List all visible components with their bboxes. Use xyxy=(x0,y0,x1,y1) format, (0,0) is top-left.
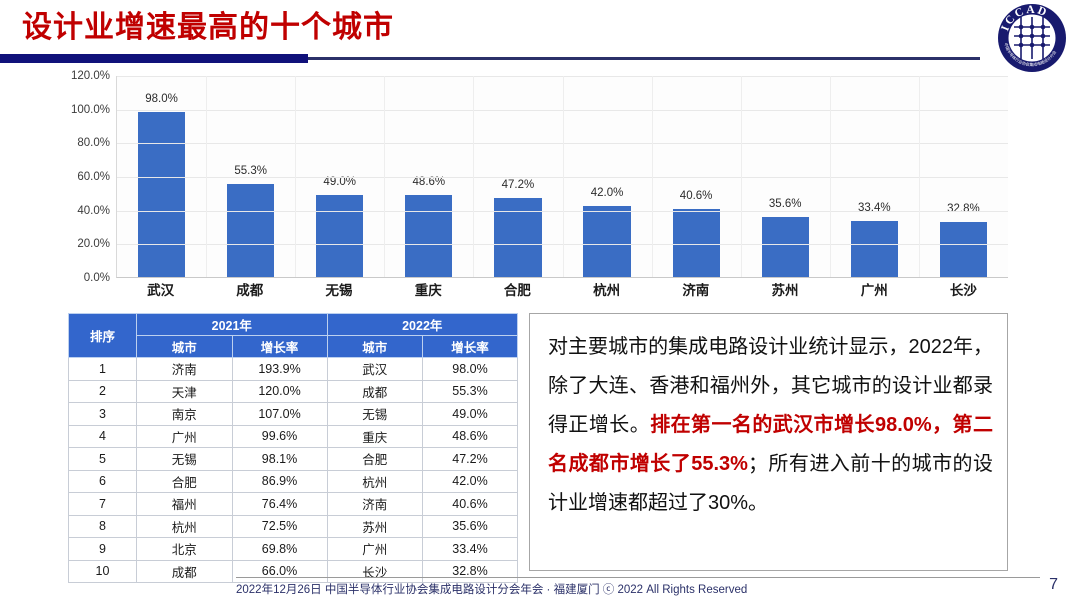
commentary-box: 对主要城市的集成电路设计业统计显示，2022年，除了大连、香港和福州外，其它城市… xyxy=(529,313,1008,571)
chart-bar: 33.4% xyxy=(851,221,898,277)
th-year-2021: 2021年 xyxy=(137,314,328,336)
cell-rate-2022: 42.0% xyxy=(423,470,518,493)
chart-bar: 47.2% xyxy=(494,198,541,277)
cell-rank: 8 xyxy=(69,515,137,538)
chart-x-category-label: 济南 xyxy=(651,279,740,303)
y-axis-tick: 120.0% xyxy=(71,70,110,82)
cell-rate-2022: 40.6% xyxy=(423,493,518,516)
th-year-2022: 2022年 xyxy=(327,314,517,336)
chart-x-category-label: 广州 xyxy=(830,279,919,303)
chart-plot-area: 98.0%55.3%49.0%48.6%47.2%42.0%40.6%35.6%… xyxy=(116,76,1008,278)
cell-rate-2022: 33.4% xyxy=(423,538,518,561)
cell-rank: 7 xyxy=(69,493,137,516)
cell-rate-2022: 49.0% xyxy=(423,403,518,426)
chart-bar-value-label: 98.0% xyxy=(145,93,178,105)
cell-city-2022: 无锡 xyxy=(327,403,422,426)
chart-vertical-gridline xyxy=(563,76,564,277)
chart-x-category-label: 武汉 xyxy=(116,279,205,303)
cell-city-2021: 无锡 xyxy=(137,448,232,471)
chart-vertical-gridline xyxy=(830,76,831,277)
cell-rate-2021: 98.1% xyxy=(232,448,327,471)
header-rule-thin xyxy=(308,57,980,60)
y-axis-tick: 40.0% xyxy=(77,205,110,217)
chart-bar-value-label: 47.2% xyxy=(502,179,535,191)
th-growth-2022: 增长率 xyxy=(423,336,518,358)
page-number: 7 xyxy=(1049,576,1058,594)
chart-bar: 55.3% xyxy=(227,184,274,277)
chart-bar-value-label: 55.3% xyxy=(234,165,267,177)
table-header-row-1: 排序 2021年 2022年 xyxy=(69,314,518,336)
chart-vertical-gridline xyxy=(384,76,385,277)
cell-city-2022: 长沙 xyxy=(327,560,422,583)
header-rule-thick xyxy=(0,54,308,63)
cell-city-2022: 武汉 xyxy=(327,358,422,381)
th-city-2021: 城市 xyxy=(137,336,232,358)
cell-rate-2021: 76.4% xyxy=(232,493,327,516)
cell-city-2021: 济南 xyxy=(137,358,232,381)
y-axis-tick: 60.0% xyxy=(77,171,110,183)
th-growth-2021: 增长率 xyxy=(232,336,327,358)
chart-bar-value-label: 32.8% xyxy=(947,203,980,215)
chart-bar: 42.0% xyxy=(583,206,630,277)
cell-rate-2021: 69.8% xyxy=(232,538,327,561)
table-row: 9北京69.8%广州33.4% xyxy=(69,538,518,561)
growth-bar-chart: 120.0%100.0%80.0%60.0%40.0%20.0%0.0% 98.… xyxy=(58,76,1008,302)
cell-city-2021: 福州 xyxy=(137,493,232,516)
table-row: 4广州99.6%重庆48.6% xyxy=(69,425,518,448)
th-city-2022: 城市 xyxy=(327,336,422,358)
cell-rank: 3 xyxy=(69,403,137,426)
cell-rate-2022: 55.3% xyxy=(423,380,518,403)
th-rank: 排序 xyxy=(69,314,137,358)
y-axis-tick: 80.0% xyxy=(77,137,110,149)
page-title: 设计业增速最高的十个城市 xyxy=(22,6,394,50)
chart-bar-value-label: 40.6% xyxy=(680,190,713,202)
cell-city-2021: 天津 xyxy=(137,380,232,403)
cell-city-2022: 苏州 xyxy=(327,515,422,538)
cell-city-2021: 北京 xyxy=(137,538,232,561)
cell-rank: 10 xyxy=(69,560,137,583)
chart-bar: 48.6% xyxy=(405,195,452,277)
cell-rate-2021: 120.0% xyxy=(232,380,327,403)
cell-city-2021: 广州 xyxy=(137,425,232,448)
footer-text: 2022年12月26日 中国半导体行业协会集成电路设计分会年会 · 福建厦门 ⓒ… xyxy=(236,581,747,597)
chart-bar-value-label: 42.0% xyxy=(591,187,624,199)
city-growth-table: 排序 2021年 2022年 城市 增长率 城市 增长率 1济南193.9%武汉… xyxy=(68,313,518,583)
chart-vertical-gridline xyxy=(295,76,296,277)
commentary-paragraph: 对主要城市的集成电路设计业统计显示，2022年，除了大连、香港和福州外，其它城市… xyxy=(548,328,993,523)
chart-vertical-gridline xyxy=(473,76,474,277)
table-body: 1济南193.9%武汉98.0%2天津120.0%成都55.3%3南京107.0… xyxy=(69,358,518,583)
table-header: 排序 2021年 2022年 城市 增长率 城市 增长率 xyxy=(69,314,518,358)
table-row: 1济南193.9%武汉98.0% xyxy=(69,358,518,381)
chart-y-axis: 120.0%100.0%80.0%60.0%40.0%20.0%0.0% xyxy=(58,76,116,278)
cell-rank: 4 xyxy=(69,425,137,448)
chart-bar: 35.6% xyxy=(762,217,809,277)
cell-rank: 9 xyxy=(69,538,137,561)
chart-bar: 40.6% xyxy=(673,209,720,277)
cell-city-2021: 成都 xyxy=(137,560,232,583)
y-axis-tick: 100.0% xyxy=(71,104,110,116)
chart-x-category-label: 成都 xyxy=(205,279,294,303)
table-row: 5无锡98.1%合肥47.2% xyxy=(69,448,518,471)
chart-bar: 49.0% xyxy=(316,195,363,277)
cell-rate-2021: 107.0% xyxy=(232,403,327,426)
cell-rank: 1 xyxy=(69,358,137,381)
cell-rate-2021: 72.5% xyxy=(232,515,327,538)
chart-vertical-gridline xyxy=(741,76,742,277)
chart-bar: 98.0% xyxy=(138,112,185,277)
cell-rank: 6 xyxy=(69,470,137,493)
chart-vertical-gridline xyxy=(919,76,920,277)
chart-x-axis: 武汉成都无锡重庆合肥杭州济南苏州广州长沙 xyxy=(116,279,1008,303)
chart-x-category-label: 长沙 xyxy=(919,279,1008,303)
y-axis-tick: 0.0% xyxy=(84,272,110,284)
cell-city-2022: 合肥 xyxy=(327,448,422,471)
cell-rate-2021: 193.9% xyxy=(232,358,327,381)
y-axis-tick: 20.0% xyxy=(77,238,110,250)
chart-x-category-label: 苏州 xyxy=(740,279,829,303)
table-row: 2天津120.0%成都55.3% xyxy=(69,380,518,403)
chart-x-category-label: 合肥 xyxy=(473,279,562,303)
cell-rate-2022: 98.0% xyxy=(423,358,518,381)
cell-city-2021: 合肥 xyxy=(137,470,232,493)
chart-x-category-label: 重庆 xyxy=(384,279,473,303)
cell-city-2022: 广州 xyxy=(327,538,422,561)
footer-divider xyxy=(236,577,1040,578)
cell-rate-2021: 99.6% xyxy=(232,425,327,448)
chart-bar-value-label: 48.6% xyxy=(413,176,446,188)
table-row: 7福州76.4%济南40.6% xyxy=(69,493,518,516)
chart-vertical-gridline xyxy=(652,76,653,277)
chart-x-category-label: 无锡 xyxy=(294,279,383,303)
iccad-logo: ICCAD 中国半导体行业协会集成电路设计分会 xyxy=(996,2,1068,74)
cell-city-2022: 成都 xyxy=(327,380,422,403)
cell-rate-2022: 47.2% xyxy=(423,448,518,471)
cell-rank: 2 xyxy=(69,380,137,403)
chart-bar: 32.8% xyxy=(940,222,987,277)
chart-bar-value-label: 33.4% xyxy=(858,202,891,214)
cell-rate-2022: 32.8% xyxy=(423,560,518,583)
cell-rate-2022: 35.6% xyxy=(423,515,518,538)
table-row: 6合肥86.9%杭州42.0% xyxy=(69,470,518,493)
cell-rate-2021: 66.0% xyxy=(232,560,327,583)
cell-city-2022: 济南 xyxy=(327,493,422,516)
cell-rate-2022: 48.6% xyxy=(423,425,518,448)
cell-city-2021: 南京 xyxy=(137,403,232,426)
cell-rate-2021: 86.9% xyxy=(232,470,327,493)
table-row: 3南京107.0%无锡49.0% xyxy=(69,403,518,426)
cell-rank: 5 xyxy=(69,448,137,471)
chart-bar-value-label: 35.6% xyxy=(769,198,802,210)
chart-x-category-label: 杭州 xyxy=(562,279,651,303)
cell-city-2022: 重庆 xyxy=(327,425,422,448)
table-row: 8杭州72.5%苏州35.6% xyxy=(69,515,518,538)
cell-city-2021: 杭州 xyxy=(137,515,232,538)
cell-city-2022: 杭州 xyxy=(327,470,422,493)
table-row: 10成都66.0%长沙32.8% xyxy=(69,560,518,583)
chart-vertical-gridline xyxy=(206,76,207,277)
table-header-row-2: 城市 增长率 城市 增长率 xyxy=(69,336,518,358)
